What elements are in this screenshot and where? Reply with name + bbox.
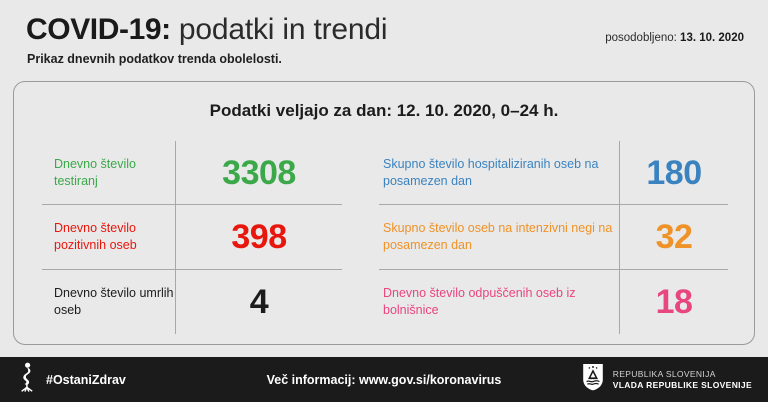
metric-row-daily-deaths: Dnevno število umrlih oseb 4 <box>42 270 342 334</box>
metric-label: Skupno število hospitaliziranih oseb na … <box>379 156 619 191</box>
metric-row-daily-tests: Dnevno število testiranj 3308 <box>42 141 342 205</box>
metric-value: 4 <box>176 285 342 319</box>
card-heading: Podatki veljajo za dan: 12. 10. 2020, 0–… <box>14 101 754 121</box>
metric-label: Skupno število oseb na intenzivni negi n… <box>379 220 619 255</box>
data-card: Podatki veljajo za dan: 12. 10. 2020, 0–… <box>13 81 755 345</box>
last-updated-label: posodobljeno: <box>605 32 677 44</box>
page-subtitle: Prikaz dnevnih podatkov trenda obolelost… <box>27 52 282 66</box>
metric-value: 32 <box>620 220 728 254</box>
metric-value: 180 <box>620 156 728 190</box>
metric-label: Dnevno število umrlih oseb <box>42 285 175 320</box>
government-logo-text: REPUBLIKA SLOVENIJA VLADA REPUBLIKE SLOV… <box>613 369 752 390</box>
metric-label: Dnevno število odpuščenih oseb iz bolniš… <box>379 285 619 320</box>
metric-value: 398 <box>176 220 342 254</box>
metric-row-hospitalized: Skupno število hospitaliziranih oseb na … <box>379 141 728 205</box>
metric-value: 18 <box>620 285 728 319</box>
footer-info-text[interactable]: Več informacij: www.gov.si/koronavirus <box>267 373 502 387</box>
metric-row-daily-positive: Dnevno število pozitivnih oseb 398 <box>42 205 342 269</box>
page-title: COVID-19: podatki in trendi <box>26 15 387 45</box>
metrics-column-left: Dnevno število testiranj 3308 Dnevno šte… <box>42 141 342 334</box>
metric-label: Dnevno število testiranj <box>42 156 175 191</box>
page-title-rest: podatki in trendi <box>171 13 388 46</box>
page-title-strong: COVID-19: <box>26 13 171 46</box>
last-updated-date: 13. 10. 2020 <box>680 32 744 44</box>
page-footer: #OstaniZdrav Več informacij: www.gov.si/… <box>0 357 768 402</box>
metrics-grid: Dnevno število testiranj 3308 Dnevno šte… <box>42 141 728 334</box>
metrics-column-right: Skupno število hospitaliziranih oseb na … <box>379 141 728 334</box>
metric-row-intensive-care: Skupno število oseb na intenzivni negi n… <box>379 205 728 269</box>
government-logo-block: REPUBLIKA SLOVENIJA VLADA REPUBLIKE SLOV… <box>582 357 752 402</box>
slovenia-coat-of-arms-icon <box>582 363 604 396</box>
column-spacer <box>342 141 379 334</box>
metric-label: Dnevno število pozitivnih oseb <box>42 220 175 255</box>
metric-value: 3308 <box>176 156 342 190</box>
government-line-2: VLADA REPUBLIKE SLOVENIJE <box>613 380 752 391</box>
metric-row-discharged: Dnevno število odpuščenih oseb iz bolniš… <box>379 270 728 334</box>
last-updated: posodobljeno: 13. 10. 2020 <box>605 32 744 44</box>
page-header: COVID-19: podatki in trendi Prikaz dnevn… <box>0 0 768 80</box>
government-line-1: REPUBLIKA SLOVENIJA <box>613 369 752 380</box>
